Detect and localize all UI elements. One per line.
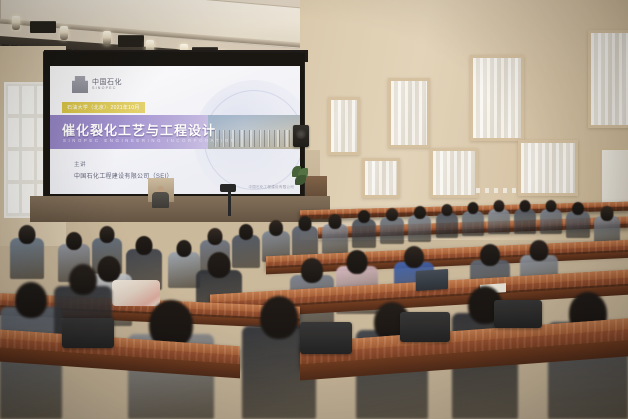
slide-subtitle: SINOPEC ENGINEERING INCORPORATION [63, 138, 237, 143]
event-tag-text: 石油大学（北京）· 2021年10月 [67, 104, 140, 111]
acoustic-panel [362, 158, 400, 198]
lecture-hall-photo: 中国石化 SINOPEC 石油大学（北京）· 2021年10月 催化裂化工艺与工… [0, 0, 628, 419]
head [572, 202, 584, 215]
torso [380, 217, 404, 244]
logo-chinese-text: 中国石化 [92, 79, 122, 86]
head [404, 246, 424, 268]
head [208, 228, 223, 245]
head [269, 220, 283, 236]
potted-plant [291, 166, 309, 188]
audience-member [408, 206, 431, 242]
head [208, 252, 231, 278]
light-housing [118, 35, 144, 47]
acoustic-panel [588, 30, 628, 128]
torso [408, 215, 431, 242]
audience-member [566, 202, 590, 238]
acoustic-panel [388, 78, 430, 148]
audience-member [352, 210, 376, 248]
head [530, 240, 549, 261]
presentation-slide: 中国石化 SINOPEC 石油大学（北京）· 2021年10月 催化裂化工艺与工… [50, 66, 300, 194]
logo-latin-text: SINOPEC [92, 86, 122, 90]
camera [220, 184, 236, 192]
stage-platform [30, 196, 330, 222]
head [414, 206, 426, 219]
spotlight [60, 26, 68, 40]
torso [566, 211, 590, 238]
wall-speaker [293, 125, 309, 147]
audience-member [380, 208, 404, 244]
torso [352, 219, 376, 248]
head [100, 226, 115, 243]
slide-title: 催化裂化工艺与工程设计 [62, 120, 216, 139]
audience-member [514, 200, 536, 234]
head [601, 206, 614, 221]
head [19, 225, 36, 244]
head [69, 264, 97, 295]
projection-screen: 中国石化 SINOPEC 石油大学（北京）· 2021年10月 催化裂化工艺与工… [50, 66, 300, 194]
head [177, 240, 192, 257]
spotlight [12, 16, 20, 30]
audience-member [292, 216, 318, 256]
light-housing [30, 21, 56, 33]
torso [514, 209, 536, 234]
torso [462, 211, 484, 236]
audience-member [462, 202, 484, 236]
chair[interactable] [400, 312, 450, 342]
head [358, 210, 370, 223]
head [494, 200, 505, 212]
head [480, 244, 500, 266]
head [66, 232, 82, 250]
torso [540, 209, 562, 234]
torso [10, 238, 44, 279]
torso [488, 209, 510, 234]
acoustic-panel [328, 97, 360, 155]
torso [292, 226, 318, 256]
head [442, 204, 453, 216]
refinery-photo [208, 115, 300, 149]
head [239, 224, 253, 240]
head [347, 250, 368, 274]
audience-member [488, 200, 510, 234]
spotlight [103, 31, 111, 45]
event-tag: 石油大学（北京）· 2021年10月 [62, 102, 145, 113]
sinopec-mark-icon [72, 76, 88, 93]
chair[interactable] [494, 300, 542, 328]
head [386, 208, 398, 221]
camera-tripod [228, 190, 231, 216]
slide-footer: 中国石化工程建设有限公司 [248, 185, 294, 190]
slide-byline: 主讲 [74, 160, 86, 168]
acoustic-panel [518, 140, 578, 196]
acoustic-panel [430, 148, 478, 198]
chair[interactable] [62, 318, 114, 348]
head [299, 216, 312, 231]
head [520, 200, 531, 212]
audience-member [10, 225, 44, 279]
head [468, 202, 479, 214]
head [260, 296, 298, 339]
audience-member [540, 200, 562, 234]
wall-controls[interactable] [476, 188, 516, 193]
acoustic-panel [470, 55, 524, 141]
head [546, 200, 557, 212]
torso [436, 213, 458, 238]
head [136, 236, 153, 255]
sinopec-logo: 中国石化 SINOPEC [72, 76, 122, 93]
chair[interactable] [300, 322, 352, 354]
head [329, 214, 342, 229]
audience-member [322, 214, 348, 254]
door[interactable] [600, 148, 628, 208]
audience-member [436, 204, 458, 238]
head [15, 282, 47, 318]
laptop[interactable] [416, 269, 448, 291]
presenter [152, 186, 169, 208]
head [301, 258, 323, 283]
